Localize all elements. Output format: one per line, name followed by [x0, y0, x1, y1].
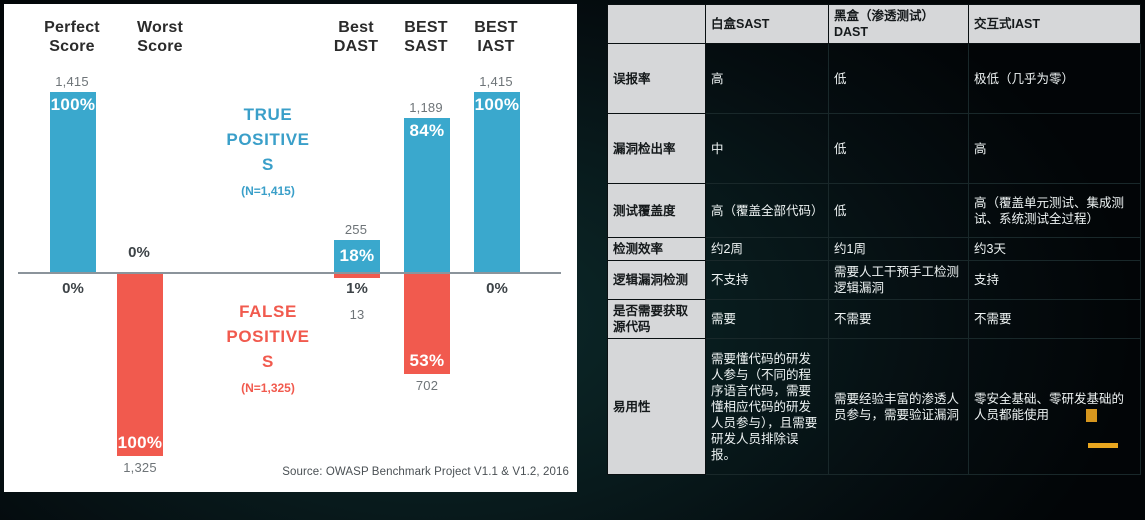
- header-line-2: Score: [108, 37, 212, 56]
- cell-ease-of-use-sast: 需要懂代码的研发人参与（不同的程序语言代码，需要懂相应代码的研发人员参与），且需…: [706, 339, 829, 475]
- cell-detection-efficiency-dast: 约1周: [829, 238, 969, 261]
- row-label-detection-rate: 漏洞检出率: [608, 114, 706, 184]
- chart-percent-label-perfect-fp: 0%: [33, 280, 113, 297]
- chart-bar-dast-false-positive: [334, 274, 380, 278]
- header-line-1: BEST: [386, 18, 466, 37]
- chart-annotation-true-positives: TRUE POSITIVE S (N=1,415): [194, 102, 342, 204]
- cell-logic-flaw-detection-iast: 支持: [969, 261, 1141, 300]
- chart-count-label-dast-fp: 13: [317, 307, 397, 322]
- cell-ease-of-use-dast: 需要经验丰富的渗透人员参与，需要验证漏洞: [829, 339, 969, 475]
- cell-false-positive-rate-iast: 极低（几乎为零）: [969, 44, 1141, 114]
- table-row: 检测效率 约2周 约1周 约3天: [608, 238, 1141, 261]
- chart-count-label-sast-tp: 1,189: [386, 100, 466, 115]
- header-line-2: SAST: [386, 37, 466, 56]
- cell-detection-rate-dast: 低: [829, 114, 969, 184]
- header-line-2: DAST: [316, 37, 396, 56]
- chart-plot-area: Perfect Score Worst Score Best DAST BEST…: [4, 4, 577, 492]
- chart-column-header-worst: Worst Score: [108, 18, 212, 56]
- cell-ease-of-use-iast: 零安全基础、零研发基础的人员都能使用: [969, 339, 1141, 475]
- table-header-sast: 白盒SAST: [706, 5, 829, 44]
- table-header-dast-line2: DAST: [834, 24, 963, 40]
- chart-bar-dast-true-positive: 18%: [334, 240, 380, 272]
- cell-test-coverage-dast: 低: [829, 184, 969, 238]
- owasp-benchmark-chart: Perfect Score Worst Score Best DAST BEST…: [4, 4, 577, 492]
- table-row: 易用性 需要懂代码的研发人参与（不同的程序语言代码，需要懂相应代码的研发人员参与…: [608, 339, 1141, 475]
- chart-count-label-iast-tp: 1,415: [456, 74, 536, 89]
- chart-bar-percent-label: 84%: [404, 121, 450, 141]
- cell-test-coverage-iast: 高（覆盖单元测试、集成测试、系统测试全过程）: [969, 184, 1141, 238]
- annotation-sample-size: (N=1,325): [194, 376, 342, 401]
- cell-detection-rate-iast: 高: [969, 114, 1141, 184]
- annotation-line-2: POSITIVE: [194, 324, 342, 349]
- chart-bar-percent-label: 53%: [404, 351, 450, 371]
- table-corner-cell: [608, 5, 706, 44]
- chart-bar-percent-label: 18%: [334, 246, 380, 266]
- chart-bar-iast-true-positive: 100%: [474, 92, 520, 272]
- highlight-underline-marker-icon: [1088, 443, 1118, 448]
- table-row: 测试覆盖度 高（覆盖全部代码） 低 高（覆盖单元测试、集成测试、系统测试全过程）: [608, 184, 1141, 238]
- chart-column-header-iast: BEST IAST: [456, 18, 536, 56]
- cell-detection-rate-sast: 中: [706, 114, 829, 184]
- chart-count-label-perfect-tp: 1,415: [32, 74, 112, 89]
- row-label-logic-flaw-detection: 逻辑漏洞检测: [608, 261, 706, 300]
- cell-false-positive-rate-dast: 低: [829, 44, 969, 114]
- row-label-false-positive-rate: 误报率: [608, 44, 706, 114]
- table-header-row: 白盒SAST 黑盒（渗透测试） DAST 交互式IAST: [608, 5, 1141, 44]
- slide-root: Perfect Score Worst Score Best DAST BEST…: [0, 0, 1145, 520]
- chart-bar-perfect-true-positive: 100%: [50, 92, 96, 272]
- table-header-dast-line1: 黑盒（渗透测试）: [834, 8, 963, 24]
- chart-percent-label-worst-tp: 0%: [99, 244, 179, 261]
- cell-detection-efficiency-iast: 约3天: [969, 238, 1141, 261]
- row-label-detection-efficiency: 检测效率: [608, 238, 706, 261]
- chart-bar-sast-false-positive: 53%: [404, 274, 450, 374]
- cell-false-positive-rate-sast: 高: [706, 44, 829, 114]
- header-line-1: Worst: [108, 18, 212, 37]
- text-cursor-marker-icon: [1086, 409, 1097, 422]
- chart-source-note: Source: OWASP Benchmark Project V1.1 & V…: [282, 466, 569, 478]
- table-row: 误报率 高 低 极低（几乎为零）: [608, 44, 1141, 114]
- chart-bar-percent-label: 100%: [474, 95, 520, 115]
- sast-dast-iast-comparison-table: 白盒SAST 黑盒（渗透测试） DAST 交互式IAST 误报率 高 低 极低（…: [607, 4, 1141, 475]
- comparison-table-container: 白盒SAST 黑盒（渗透测试） DAST 交互式IAST 误报率 高 低 极低（…: [607, 4, 1140, 516]
- row-label-ease-of-use: 易用性: [608, 339, 706, 475]
- header-line-1: Best: [316, 18, 396, 37]
- chart-count-label-sast-fp: 702: [387, 378, 467, 393]
- table-row: 是否需要获取源代码 需要 不需要 不需要: [608, 300, 1141, 339]
- cell-ease-of-use-iast-text: 零安全基础、零研发基础的人员都能使用: [974, 392, 1124, 422]
- cell-logic-flaw-detection-sast: 不支持: [706, 261, 829, 300]
- chart-column-header-sast: BEST SAST: [386, 18, 466, 56]
- ease-of-use-iast-text-wrap: 零安全基础、零研发基础的人员都能使用: [974, 391, 1135, 423]
- chart-count-label-dast-tp: 255: [316, 222, 396, 237]
- chart-bar-sast-true-positive: 84%: [404, 118, 450, 272]
- row-label-test-coverage: 测试覆盖度: [608, 184, 706, 238]
- chart-percent-label-dast-fp: 1%: [317, 280, 397, 297]
- table-row: 漏洞检出率 中 低 高: [608, 114, 1141, 184]
- cell-detection-efficiency-sast: 约2周: [706, 238, 829, 261]
- cell-logic-flaw-detection-dast: 需要人工干预手工检测逻辑漏洞: [829, 261, 969, 300]
- table-row: 逻辑漏洞检测 不支持 需要人工干预手工检测逻辑漏洞 支持: [608, 261, 1141, 300]
- chart-bar-percent-label: 100%: [117, 433, 163, 453]
- row-label-needs-source-code: 是否需要获取源代码: [608, 300, 706, 339]
- cell-needs-source-code-dast: 不需要: [829, 300, 969, 339]
- chart-count-label-worst-fp: 1,325: [100, 460, 180, 475]
- header-line-2: IAST: [456, 37, 536, 56]
- annotation-line-1: TRUE: [194, 102, 342, 127]
- annotation-line-3: S: [194, 349, 342, 374]
- annotation-sample-size: (N=1,415): [194, 179, 342, 204]
- chart-bar-percent-label: 100%: [50, 95, 96, 115]
- cell-needs-source-code-iast: 不需要: [969, 300, 1141, 339]
- annotation-line-2: POSITIVE: [194, 127, 342, 152]
- table-header-dast: 黑盒（渗透测试） DAST: [829, 5, 969, 44]
- table-header-iast: 交互式IAST: [969, 5, 1141, 44]
- chart-column-header-dast: Best DAST: [316, 18, 396, 56]
- annotation-line-3: S: [194, 152, 342, 177]
- cell-needs-source-code-sast: 需要: [706, 300, 829, 339]
- cell-test-coverage-sast: 高（覆盖全部代码）: [706, 184, 829, 238]
- chart-percent-label-iast-fp: 0%: [457, 280, 537, 297]
- chart-bar-worst-false-positive: 100%: [117, 274, 163, 456]
- header-line-1: BEST: [456, 18, 536, 37]
- chart-baseline-axis: [18, 272, 561, 274]
